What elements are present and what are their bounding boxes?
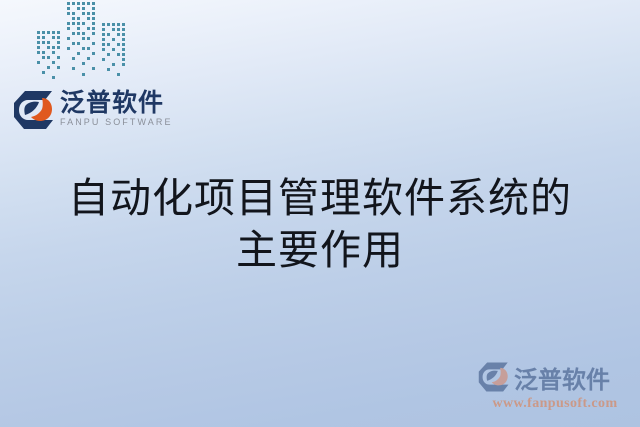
brand-logo: 泛普软件 FANPU SOFTWARE: [12, 86, 170, 134]
watermark-name-cn: 泛普软件: [514, 360, 610, 395]
slide-canvas: 泛普软件 FANPU SOFTWARE 自动化项目管理软件系统的 主要作用 泛普…: [0, 0, 640, 427]
page-title: 自动化项目管理软件系统的 主要作用: [0, 172, 640, 277]
watermark: 泛普软件 www.fanpusoft.com: [476, 359, 634, 421]
pixel-skyline-graphic: [36, 0, 128, 84]
watermark-logo-row: 泛普软件: [476, 359, 634, 395]
brand-text-block: 泛普软件 FANPU SOFTWARE: [60, 91, 173, 129]
brand-name-cn: 泛普软件: [60, 91, 173, 117]
title-line-1: 自动化项目管理软件系统的: [0, 172, 640, 224]
title-line-2: 主要作用: [0, 224, 640, 276]
fanpu-watermark-mark-icon: [476, 361, 512, 393]
fanpu-logo-mark-icon: [12, 89, 56, 131]
watermark-url: www.fanpusoft.com: [476, 396, 634, 412]
brand-name-en: FANPU SOFTWARE: [60, 117, 173, 129]
